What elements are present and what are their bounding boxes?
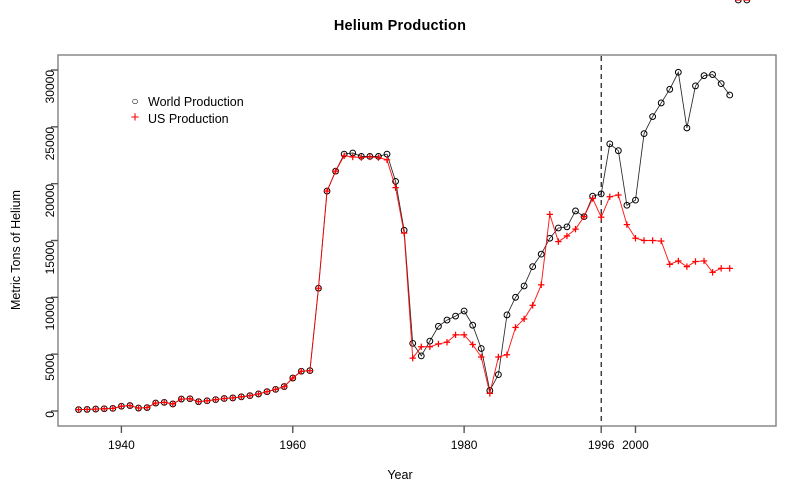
y-tick-label: 20000 [43,184,57,220]
legend-label: World Production [148,95,244,109]
series-us-production [75,0,750,413]
y-tick-label: 5000 [43,354,57,390]
plot-area [0,0,800,500]
legend-plus-icon: + [128,110,142,125]
chart-figure: Helium Production Metric Tons of Helium … [0,0,800,500]
y-tick-label: 25000 [43,127,57,163]
x-tick-label: 1980 [444,438,484,452]
legend-circle-icon: ○ [128,95,142,107]
y-tick-label: 0 [43,411,57,447]
x-tick-label: 1960 [273,438,313,452]
x-tick-label: 2000 [615,438,655,452]
series-line [79,156,730,410]
series-world-production [76,0,750,413]
legend-label: US Production [148,112,229,126]
x-tick-label: 1940 [101,438,141,452]
y-tick-label: 30000 [43,70,57,106]
y-tick-label: 10000 [43,297,57,333]
y-tick-label: 15000 [43,241,57,277]
plot-box-frame [58,55,776,426]
